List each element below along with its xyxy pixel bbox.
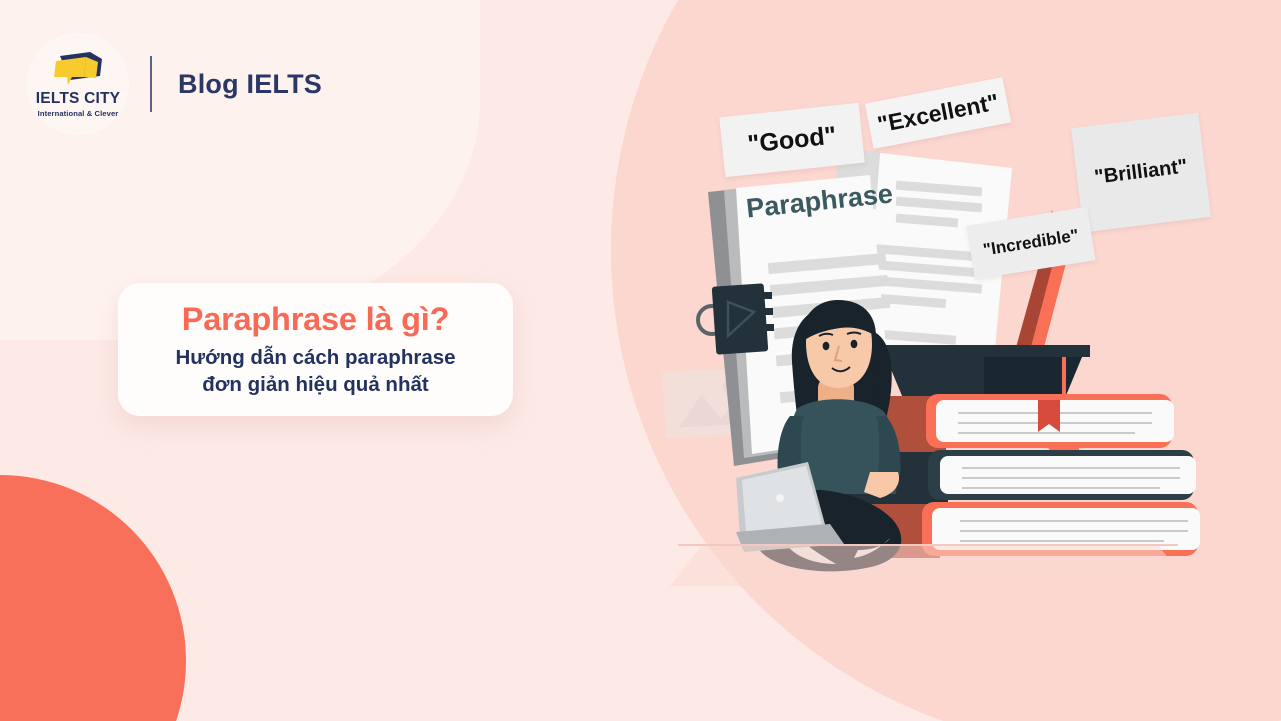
logo-name: IELTS CITY — [36, 91, 120, 107]
binder-clip-icon — [698, 283, 774, 354]
site-header: IELTS CITY International & Clever Blog I… — [28, 34, 322, 134]
headline-subtitle-line2: đơn giản hiệu quả nhất — [175, 371, 455, 398]
headline-title: Paraphrase là gì? — [182, 301, 450, 337]
ground-shadow — [670, 546, 1190, 586]
header-divider — [150, 56, 152, 112]
headline-card: Paraphrase là gì? Hướng dẫn cách paraphr… — [118, 283, 513, 416]
logo-book-icon — [50, 50, 106, 88]
blog-title: Blog IELTS — [178, 69, 322, 100]
headline-subtitle-line1: Hướng dẫn cách paraphrase — [175, 344, 455, 371]
logo-tagline: International & Clever — [38, 109, 119, 118]
praise-note-brilliant: "Brilliant" — [1071, 113, 1211, 233]
page-root: IELTS CITY International & Clever Blog I… — [0, 0, 1281, 721]
hero-illustration: "Good" "Excellent" "Brilliant" "Incredib… — [640, 80, 1250, 580]
background-coral-circle — [0, 475, 186, 721]
headline-subtitle: Hướng dẫn cách paraphrase đơn giản hiệu … — [175, 344, 455, 398]
ground-line — [678, 544, 1178, 546]
logo[interactable]: IELTS CITY International & Clever — [28, 34, 128, 134]
